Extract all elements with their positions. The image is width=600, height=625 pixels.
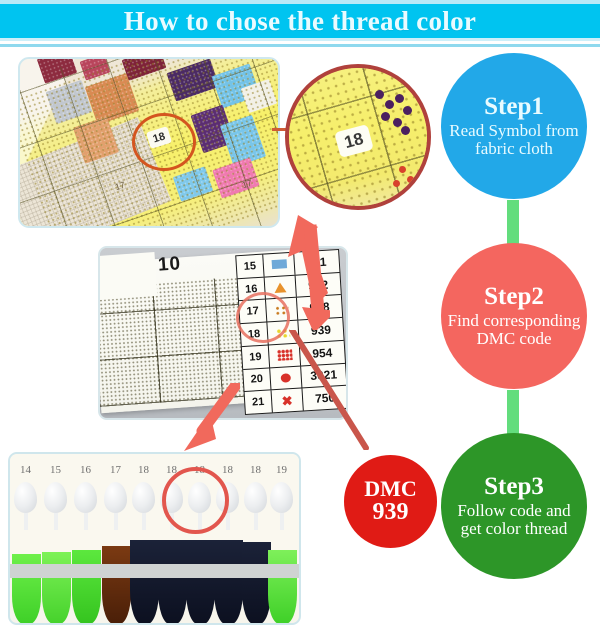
magnifier-symbol-dot bbox=[381, 112, 390, 121]
threads-photo: 14 15 16 17 18 18 18 18 18 19 2 bbox=[8, 452, 301, 625]
magnifier-symbol-dot bbox=[407, 176, 414, 183]
chart-big-label: 10 bbox=[157, 253, 182, 277]
thread-label: 14 bbox=[12, 464, 39, 476]
thread-skein bbox=[268, 550, 297, 624]
chart-white-patch bbox=[98, 252, 157, 300]
thread-skein bbox=[186, 540, 215, 624]
bobbin-icon bbox=[74, 482, 97, 513]
bobbin-neck bbox=[54, 513, 58, 530]
thread-skein bbox=[102, 546, 131, 624]
dmc-code-badge: DMC 939 bbox=[344, 455, 437, 548]
magnifier-symbol-dot bbox=[375, 90, 384, 99]
thread-skein bbox=[72, 550, 101, 624]
legend-row-number: 20 bbox=[243, 368, 271, 391]
thread-skein bbox=[242, 542, 271, 624]
legend-row-number: 21 bbox=[245, 391, 273, 414]
bobbin-neck bbox=[114, 513, 118, 530]
legend-row-number: 19 bbox=[242, 345, 270, 368]
thread-highlight-circle bbox=[162, 467, 229, 534]
thread-label: 16 bbox=[72, 464, 99, 476]
thread-column: 16 bbox=[72, 464, 99, 530]
bobbin-neck bbox=[280, 513, 284, 530]
dmc-number: 939 bbox=[373, 500, 409, 524]
step-3-body: Follow code and get color thread bbox=[446, 502, 582, 538]
bobbin-icon bbox=[44, 482, 67, 513]
step-2-heading: Step2 bbox=[484, 284, 544, 310]
thread-label: 18 bbox=[130, 464, 157, 476]
bobbin-icon bbox=[244, 482, 267, 513]
thread-label: 17 bbox=[102, 464, 129, 476]
magnifier-symbol-dot bbox=[403, 106, 412, 115]
bobbin-icon bbox=[270, 482, 293, 513]
step-1-circle: Step1 Read Symbol from fabric cloth bbox=[441, 53, 587, 199]
thread-skein bbox=[214, 540, 243, 624]
magnifier-symbol-dot bbox=[399, 166, 406, 173]
magnifier-symbol-dot bbox=[393, 118, 402, 127]
step-2-body: Find corresponding DMC code bbox=[446, 312, 582, 348]
magnifier-symbol-dot bbox=[393, 180, 400, 187]
dmc-label: DMC bbox=[364, 478, 417, 500]
magnifier-symbol-dot bbox=[401, 126, 410, 135]
step-2-circle: Step2 Find corresponding DMC code bbox=[441, 243, 587, 389]
thread-label: 15 bbox=[42, 464, 69, 476]
page-title: How to chose the thread color bbox=[124, 8, 476, 35]
thread-column: 14 bbox=[12, 464, 39, 530]
thread-card-shadow bbox=[10, 564, 299, 578]
thread-label: 19 bbox=[268, 464, 295, 476]
bobbin-icon bbox=[132, 482, 155, 513]
fabric-photo: 17 17 18 bbox=[18, 57, 280, 228]
step-1-heading: Step1 bbox=[484, 94, 544, 120]
bobbin-icon bbox=[104, 482, 127, 513]
magnifier-inset: 18 bbox=[285, 64, 431, 210]
magnifier-symbol-dot bbox=[385, 100, 394, 109]
thread-column: 15 bbox=[42, 464, 69, 530]
bobbin-neck bbox=[254, 513, 258, 530]
fabric-highlight-circle bbox=[132, 113, 196, 171]
step-3-heading: Step3 bbox=[484, 474, 544, 500]
thread-skein bbox=[130, 540, 159, 624]
bobbin-neck bbox=[24, 513, 28, 530]
thread-column: 17 bbox=[102, 464, 129, 530]
step-3-circle: Step3 Follow code and get color thread bbox=[441, 433, 587, 579]
thread-column: 18 bbox=[130, 464, 157, 530]
bobbin-neck bbox=[84, 513, 88, 530]
header-bar: How to chose the thread color bbox=[0, 0, 600, 41]
line-dmc-to-chart bbox=[280, 330, 390, 450]
thread-label: 18 bbox=[242, 464, 269, 476]
header-underline-divider bbox=[0, 44, 600, 47]
arrow-fabric-to-chart bbox=[240, 215, 330, 330]
bobbin-neck bbox=[226, 513, 230, 530]
thread-column: 18 bbox=[242, 464, 269, 530]
thread-skein bbox=[42, 552, 71, 624]
magnifier-symbol-dot bbox=[395, 94, 404, 103]
step-1-body: Read Symbol from fabric cloth bbox=[446, 122, 582, 158]
bobbin-icon bbox=[14, 482, 37, 513]
thread-column: 19 bbox=[268, 464, 295, 530]
bobbin-neck bbox=[142, 513, 146, 530]
arrow-chart-to-threads bbox=[180, 383, 240, 458]
thread-column-partial: 2 bbox=[292, 464, 301, 476]
thread-label: 18 bbox=[214, 464, 241, 476]
thread-label: 2 bbox=[292, 464, 301, 476]
thread-skein bbox=[158, 540, 187, 624]
